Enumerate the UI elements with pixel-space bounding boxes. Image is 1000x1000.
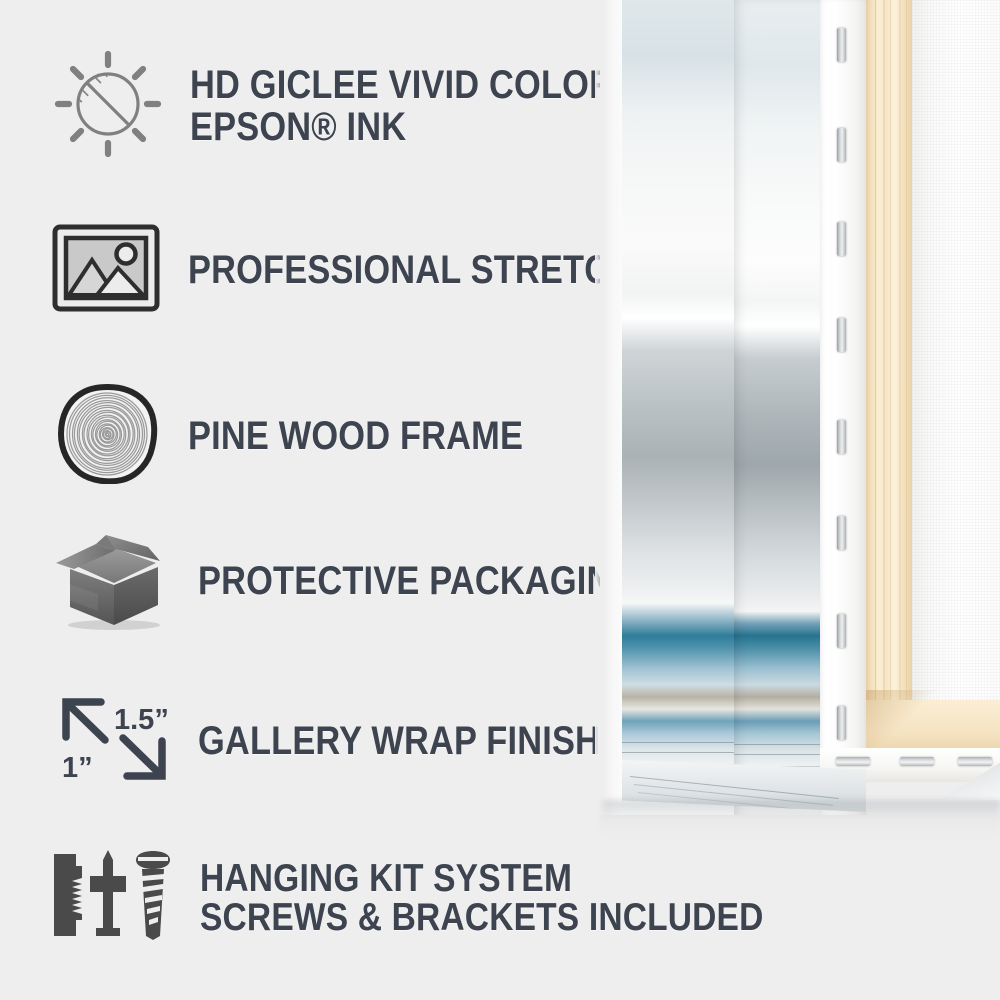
feature-list: HD GICLEE VIVID COLORS EPSON® INK PROFES… (0, 0, 640, 1000)
feature-row-gallery-wrap: 1.5” 1” GALLERY WRAP FINISH (58, 693, 666, 790)
feature-label-packaging: PROTECTIVE PACKAGING (198, 561, 638, 602)
canvas-edge-closeup-photo (600, 0, 1000, 1000)
open-box-icon (52, 527, 172, 636)
staple (837, 420, 846, 454)
pine-stretcher-bar (866, 0, 912, 750)
printed-canvas-wrapped-side (734, 0, 820, 815)
printed-canvas-face (622, 0, 734, 815)
staple (836, 757, 870, 766)
depth-label-bottom: 1” (62, 752, 93, 784)
photo-body (600, 0, 1000, 815)
staple (837, 222, 846, 256)
feature-label-pine-wood: PINE WOOD FRAME (188, 416, 523, 457)
picture-frame-icon (52, 224, 160, 317)
photo-left-edge-fade (595, 0, 609, 815)
staple (837, 28, 846, 62)
staple (900, 757, 934, 766)
sun-hatched-icon (52, 48, 164, 165)
depth-label-top: 1.5” (114, 704, 169, 736)
infographic-canvas: HD GICLEE VIVID COLORS EPSON® INK PROFES… (0, 0, 1000, 1000)
staple (837, 706, 846, 740)
staple (837, 516, 846, 550)
canvas-back-surface (912, 0, 1000, 760)
staple (958, 757, 992, 766)
feature-label-gallery-wrap: GALLERY WRAP FINISH (198, 721, 600, 762)
wood-rings-icon (58, 384, 158, 489)
canvas-drop-shadow (600, 800, 1000, 834)
feature-label-giclee: HD GICLEE VIVID COLORS EPSON® INK (190, 65, 637, 147)
staple (837, 318, 846, 352)
feature-row-pine-wood: PINE WOOD FRAME (58, 384, 578, 489)
staple (837, 614, 846, 648)
depth-arrows-icon: 1.5” 1” (58, 693, 170, 790)
staple (837, 128, 846, 162)
hanging-hardware-icon (50, 848, 174, 947)
gallery-wrap-edge (820, 0, 866, 815)
